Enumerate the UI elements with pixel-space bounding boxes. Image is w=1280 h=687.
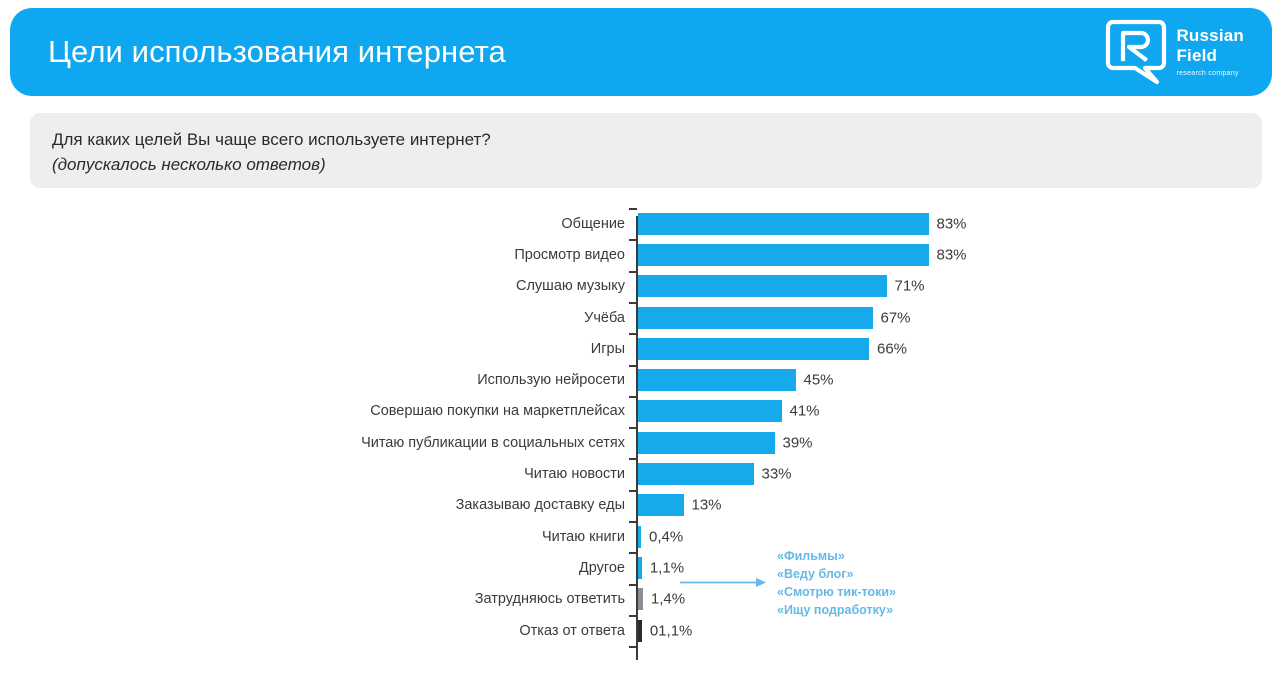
annotation-list: «Фильмы»«Веду блог»«Смотрю тик-токи»«Ищу…	[777, 548, 896, 618]
category-label: Слушаю музыку	[205, 278, 625, 294]
bar	[638, 275, 887, 297]
category-label: Совершаю покупки на маркетплейсах	[205, 403, 625, 419]
axis-tick	[629, 271, 637, 273]
logo-subtitle: research company	[1176, 70, 1244, 77]
annotation-item: «Ищу подработку»	[777, 602, 896, 618]
axis-tick	[629, 239, 637, 241]
axis-tick	[629, 646, 637, 648]
axis-tick	[629, 490, 637, 492]
chart-row: Просмотр видео83%	[0, 239, 1280, 270]
axis-tick	[629, 615, 637, 617]
question-box: Для каких целей Вы чаще всего использует…	[30, 113, 1262, 188]
bar	[638, 588, 643, 610]
bar-value-label: 33%	[762, 466, 792, 483]
bar	[638, 213, 929, 235]
chart-row: Слушаю музыку71%	[0, 271, 1280, 302]
category-label: Использую нейросети	[205, 372, 625, 388]
logo-line-2: Field	[1176, 47, 1244, 64]
bar	[638, 463, 754, 485]
bar	[638, 307, 873, 329]
chart-row: Отказ от ответа01,1%	[0, 615, 1280, 646]
bar-value-label: 13%	[692, 497, 722, 514]
bar-value-label: 67%	[881, 309, 911, 326]
bar-value-label: 66%	[877, 340, 907, 357]
bar-value-label: 1,1%	[650, 559, 684, 576]
bar	[638, 494, 684, 516]
axis-tick	[629, 208, 637, 210]
bar-value-label: 0,4%	[649, 528, 683, 545]
bar-value-label: 71%	[895, 278, 925, 295]
category-label: Общение	[205, 216, 625, 232]
bar	[638, 244, 929, 266]
bar-value-label: 83%	[937, 246, 967, 263]
category-label: Читаю новости	[205, 466, 625, 482]
category-label: Учёба	[205, 310, 625, 326]
bar-chart: Общение83%Просмотр видео83%Слушаю музыку…	[0, 208, 1280, 678]
category-label: Читаю книги	[205, 529, 625, 545]
bar	[638, 369, 796, 391]
axis-tick	[629, 552, 637, 554]
category-label: Отказ от ответа	[205, 623, 625, 639]
bar	[638, 620, 642, 642]
bar-value-label: 41%	[790, 403, 820, 420]
page-title: Цели использования интернета	[48, 34, 506, 70]
question-text: Для каких целей Вы чаще всего использует…	[52, 127, 1262, 152]
logo-line-1: Russian	[1176, 27, 1244, 44]
category-label: Читаю публикации в социальных сетях	[205, 435, 625, 451]
category-label: Другое	[205, 560, 625, 576]
bar-value-label: 45%	[804, 372, 834, 389]
axis-tick	[629, 458, 637, 460]
header-bar: Цели использования интернета Russian Fie…	[10, 8, 1272, 96]
bar	[638, 400, 782, 422]
category-label: Игры	[205, 341, 625, 357]
logo-text: Russian Field research company	[1176, 27, 1244, 77]
chart-row: Общение83%	[0, 208, 1280, 239]
bar-value-label: 1,4%	[651, 591, 685, 608]
chart-row: Читаю новости33%	[0, 458, 1280, 489]
chart-row: Другое1,1%	[0, 552, 1280, 583]
question-note: (допускалось несколько ответов)	[52, 152, 1262, 177]
chart-row: Учёба67%	[0, 302, 1280, 333]
chart-row: Игры66%	[0, 333, 1280, 364]
annotation-item: «Веду блог»	[777, 566, 896, 582]
bar-value-label: 01,1%	[650, 622, 693, 639]
chart-row: Читаю публикации в социальных сетях39%	[0, 427, 1280, 458]
bar	[638, 557, 642, 579]
annotation-item: «Фильмы»	[777, 548, 896, 564]
bar	[638, 526, 641, 548]
category-label: Заказываю доставку еды	[205, 497, 625, 513]
axis-tick	[629, 396, 637, 398]
axis-tick	[629, 521, 637, 523]
bar-value-label: 39%	[783, 434, 813, 451]
russian-field-speech-bubble-r-icon	[1105, 19, 1167, 85]
category-label: Просмотр видео	[205, 247, 625, 263]
chart-row: Читаю книги0,4%	[0, 521, 1280, 552]
bar-value-label: 83%	[937, 215, 967, 232]
axis-tick	[629, 302, 637, 304]
chart-row: Совершаю покупки на маркетплейсах41%	[0, 396, 1280, 427]
annotation-item: «Смотрю тик-токи»	[777, 584, 896, 600]
chart-row: Использую нейросети45%	[0, 365, 1280, 396]
bar	[638, 338, 869, 360]
chart-row: Заказываю доставку еды13%	[0, 490, 1280, 521]
bar	[638, 432, 775, 454]
axis-tick	[629, 427, 637, 429]
axis-tick	[629, 333, 637, 335]
chart-row: Затрудняюсь ответить1,4%	[0, 584, 1280, 615]
arrow-right-icon	[680, 575, 766, 586]
logo: Russian Field research company	[1105, 19, 1244, 85]
category-label: Затрудняюсь ответить	[205, 591, 625, 607]
slide: Цели использования интернета Russian Fie…	[0, 0, 1280, 687]
axis-tick	[629, 365, 637, 367]
axis-tick	[629, 584, 637, 586]
